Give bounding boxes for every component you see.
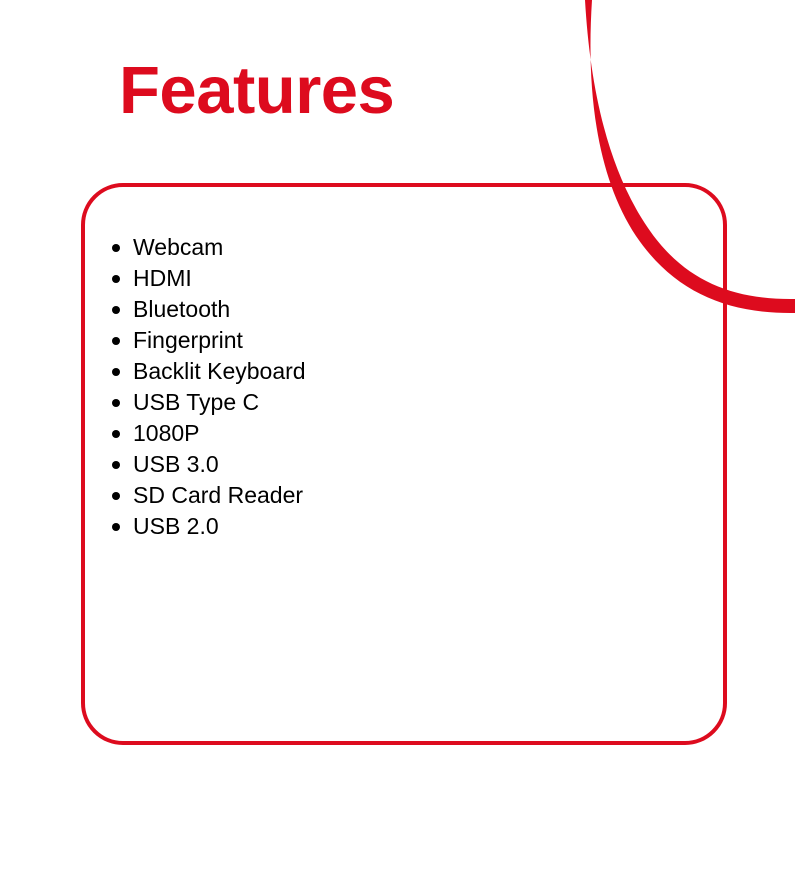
list-item-label: Fingerprint — [133, 327, 243, 353]
list-item-label: USB 2.0 — [133, 513, 219, 539]
list-item: SD Card Reader — [112, 480, 306, 511]
bullet-icon — [112, 275, 120, 283]
list-item-label: Bluetooth — [133, 296, 230, 322]
list-item-label: HDMI — [133, 265, 192, 291]
list-item: USB 3.0 — [112, 449, 306, 480]
list-item: 1080P — [112, 418, 306, 449]
bullet-icon — [112, 244, 120, 252]
list-item-label: 1080P — [133, 420, 200, 446]
bullet-icon — [112, 492, 120, 500]
feature-list: Webcam HDMI Bluetooth Fingerprint Backli… — [112, 232, 306, 542]
list-item-label: Backlit Keyboard — [133, 358, 306, 384]
list-item: HDMI — [112, 263, 306, 294]
list-item: Fingerprint — [112, 325, 306, 356]
list-item-label: SD Card Reader — [133, 482, 303, 508]
list-item: Webcam — [112, 232, 306, 263]
bullet-icon — [112, 337, 120, 345]
bullet-icon — [112, 399, 120, 407]
list-item-label: Webcam — [133, 234, 223, 260]
bullet-icon — [112, 306, 120, 314]
list-item: Backlit Keyboard — [112, 356, 306, 387]
list-item-label: USB Type C — [133, 389, 259, 415]
bullet-icon — [112, 430, 120, 438]
list-item: Bluetooth — [112, 294, 306, 325]
bullet-icon — [112, 461, 120, 469]
list-item: USB 2.0 — [112, 511, 306, 542]
bullet-icon — [112, 523, 120, 531]
page-title: Features — [119, 57, 394, 124]
slide-canvas: Features Webcam HDMI Bluetooth Fingerpri… — [0, 0, 795, 878]
list-item: USB Type C — [112, 387, 306, 418]
bullet-icon — [112, 368, 120, 376]
list-item-label: USB 3.0 — [133, 451, 219, 477]
